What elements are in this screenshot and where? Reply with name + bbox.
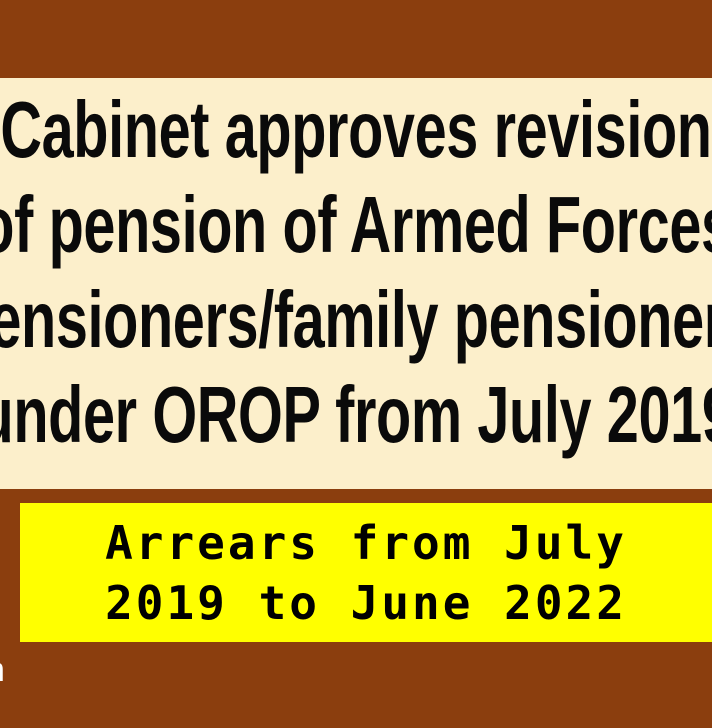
- watermark-fragment: n: [0, 653, 5, 687]
- headline-line-4: under OROP from July 2019: [0, 367, 712, 462]
- headline-line-2: of pension of Armed Forces: [0, 177, 712, 272]
- arrears-line-2: 2019 to June 2022: [105, 573, 627, 633]
- arrears-banner: Arrears from July 2019 to June 2022: [20, 503, 712, 642]
- arrears-line-1: Arrears from July: [105, 513, 627, 573]
- headline-text-block: Cabinet approves revision of pension of …: [0, 78, 712, 462]
- headline-panel: Cabinet approves revision of pension of …: [0, 78, 712, 489]
- poster-canvas: Cabinet approves revision of pension of …: [0, 0, 712, 728]
- headline-line-3: pensioners/family pensioners: [0, 272, 712, 367]
- headline-line-1: Cabinet approves revision: [0, 82, 712, 177]
